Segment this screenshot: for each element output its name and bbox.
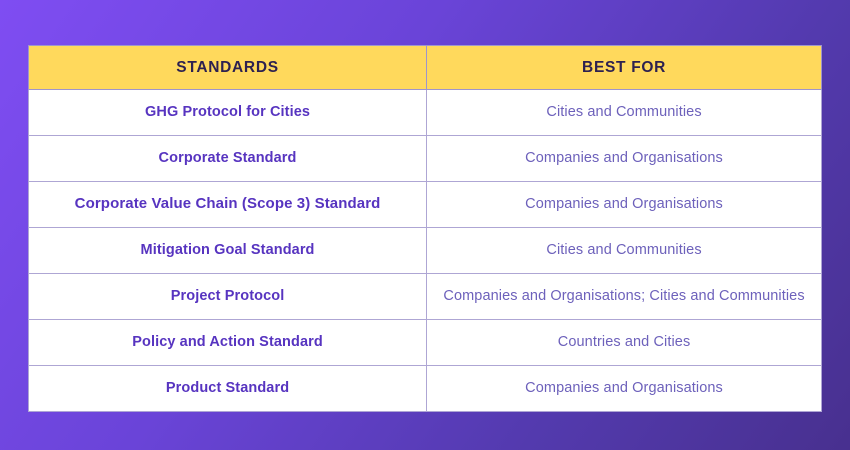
cell-standard-name: Project Protocol [29, 274, 427, 320]
table-row: Mitigation Goal Standard Cities and Comm… [29, 228, 822, 274]
column-header-best-for: BEST FOR [427, 46, 822, 90]
cell-standard-name: Product Standard [29, 366, 427, 412]
cell-best-for: Countries and Cities [427, 320, 822, 366]
cell-best-for: Cities and Communities [427, 90, 822, 136]
cell-standard-name: Corporate Value Chain (Scope 3) Standard [29, 182, 427, 228]
cell-standard-name: GHG Protocol for Cities [29, 90, 427, 136]
cell-best-for: Companies and Organisations [427, 136, 822, 182]
cell-standard-name: Mitigation Goal Standard [29, 228, 427, 274]
table-row: Project Protocol Companies and Organisat… [29, 274, 822, 320]
cell-best-for: Cities and Communities [427, 228, 822, 274]
cell-standard-name: Policy and Action Standard [29, 320, 427, 366]
table-row: Corporate Value Chain (Scope 3) Standard… [29, 182, 822, 228]
cell-best-for: Companies and Organisations [427, 366, 822, 412]
table-row: Product Standard Companies and Organisat… [29, 366, 822, 412]
table-row: Corporate Standard Companies and Organis… [29, 136, 822, 182]
table-body: GHG Protocol for Cities Cities and Commu… [29, 90, 822, 412]
cell-best-for: Companies and Organisations; Cities and … [427, 274, 822, 320]
column-header-standards: STANDARDS [29, 46, 427, 90]
cell-best-for: Companies and Organisations [427, 182, 822, 228]
table-row: GHG Protocol for Cities Cities and Commu… [29, 90, 822, 136]
standards-table: STANDARDS BEST FOR GHG Protocol for Citi… [28, 45, 822, 412]
page-background: STANDARDS BEST FOR GHG Protocol for Citi… [0, 0, 850, 450]
table-header-row: STANDARDS BEST FOR [29, 46, 822, 90]
table-header: STANDARDS BEST FOR [29, 46, 822, 90]
cell-standard-name: Corporate Standard [29, 136, 427, 182]
standards-table-container: STANDARDS BEST FOR GHG Protocol for Citi… [28, 45, 822, 412]
table-row: Policy and Action Standard Countries and… [29, 320, 822, 366]
